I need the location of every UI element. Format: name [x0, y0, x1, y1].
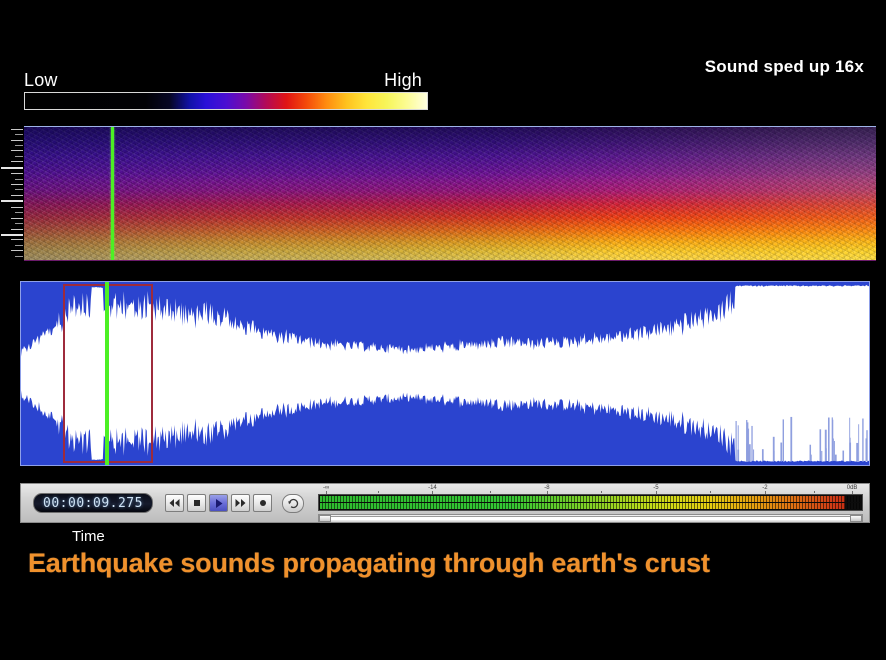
frequency-tick [11, 184, 23, 185]
frequency-tick [15, 256, 23, 257]
frequency-tick [11, 239, 23, 240]
frequency-tick [11, 129, 23, 130]
transport-bar[interactable]: 00:00:09.275 [20, 483, 870, 523]
frequency-tick [11, 250, 23, 251]
frequency-tick [11, 150, 23, 151]
waveform-path [21, 285, 869, 462]
waveform-spike [762, 449, 764, 461]
scrollbar-left-handle[interactable] [319, 515, 331, 522]
spectrogram-panel [0, 126, 886, 261]
frequency-tick [11, 173, 23, 174]
waveform-spike [842, 451, 844, 461]
sped-up-note: Sound sped up 16x [705, 57, 864, 77]
stop-icon [193, 499, 201, 507]
frequency-tick [11, 229, 23, 230]
waveform-spike [834, 441, 835, 461]
colorbar-labels: Low High [24, 70, 428, 92]
waveform-spike [751, 426, 752, 461]
waveform-spike [753, 449, 754, 461]
record-button[interactable] [253, 494, 272, 512]
frequency-tick [15, 134, 23, 135]
play-button[interactable] [209, 494, 228, 512]
fast-forward-icon [235, 499, 246, 507]
waveform-spike [749, 444, 751, 461]
frequency-tick [1, 234, 23, 236]
frequency-tick [15, 189, 23, 190]
scrollbar-track[interactable] [331, 516, 850, 521]
waveform-spike [828, 418, 830, 462]
colorbar-high-label: High [384, 70, 422, 90]
colorbar-legend: Low High [24, 70, 428, 110]
waveform-spike [783, 419, 784, 461]
waveform-spike [866, 430, 867, 461]
meter-scale-tick-minor [378, 491, 379, 493]
waveform-spike [832, 417, 833, 461]
waveform-spike [858, 424, 859, 461]
frequency-tick [15, 223, 23, 224]
frequency-tick [15, 245, 23, 246]
level-meter-right-headroom [845, 503, 861, 509]
loop-button[interactable] [282, 494, 304, 513]
frequency-tick [1, 167, 23, 169]
waveform-spike [856, 443, 858, 461]
level-meter-channel-right [320, 503, 861, 509]
waveform-spike [780, 443, 782, 461]
frequency-tick [15, 145, 23, 146]
meter-scale-tick-minor [814, 491, 815, 493]
waveform-spike [850, 438, 851, 461]
level-meter-body [318, 494, 863, 511]
waveform-display[interactable] [21, 282, 869, 465]
waveform-spike [736, 421, 737, 461]
frequency-tick [1, 200, 23, 202]
frequency-tick [11, 140, 23, 141]
scrollbar-right-handle[interactable] [850, 515, 862, 522]
waveform-panel[interactable] [20, 281, 870, 466]
spectrogram-display[interactable] [24, 126, 876, 261]
spectrogram-highfreq-shade [24, 127, 876, 260]
colorbar-gradient [24, 92, 428, 110]
waveform-spike [790, 417, 792, 461]
level-meter-scale: -∞-14-8-5-20dB [318, 485, 863, 494]
frequency-tick [11, 207, 23, 208]
waveform-spike [810, 455, 811, 461]
rewind-icon [169, 499, 180, 507]
meter-scale-tick-minor [601, 491, 602, 493]
frequency-tick [11, 195, 23, 196]
frequency-tick [11, 161, 23, 162]
fast-forward-button[interactable] [231, 494, 250, 512]
spectrogram-playhead[interactable] [111, 127, 114, 260]
frequency-axis [0, 126, 24, 261]
level-meter-area[interactable]: -∞-14-8-5-20dB [318, 485, 863, 521]
colorbar-low-label: Low [24, 70, 58, 90]
meter-scale-tick-minor [710, 491, 711, 493]
level-meter-channel-left [320, 496, 861, 502]
level-meter-left-headroom [845, 496, 861, 502]
waveform-playhead[interactable] [105, 282, 109, 465]
waveform-spike [747, 437, 748, 461]
time-axis-label: Time [72, 528, 105, 545]
waveform-spike [820, 429, 822, 461]
frequency-tick [11, 218, 23, 219]
record-icon [259, 499, 267, 507]
caption-text: Earthquake sounds propagating through ea… [28, 548, 710, 579]
play-icon [215, 499, 223, 508]
waveform-spike [835, 455, 837, 461]
stop-button[interactable] [187, 494, 206, 512]
waveform-spike [773, 437, 775, 461]
frequency-tick [15, 179, 23, 180]
frequency-tick [15, 156, 23, 157]
waveform-spike [821, 451, 822, 461]
meter-scale-tick-minor [490, 491, 491, 493]
transport-button-group [165, 494, 272, 512]
waveform-spike [862, 419, 863, 462]
horizontal-scrollbar[interactable] [318, 514, 863, 523]
waveform-spike [738, 425, 739, 461]
timecode-display[interactable]: 00:00:09.275 [33, 493, 153, 513]
waveform-spike [825, 448, 826, 461]
loop-icon [287, 498, 300, 509]
rewind-button[interactable] [165, 494, 184, 512]
frequency-tick [15, 212, 23, 213]
